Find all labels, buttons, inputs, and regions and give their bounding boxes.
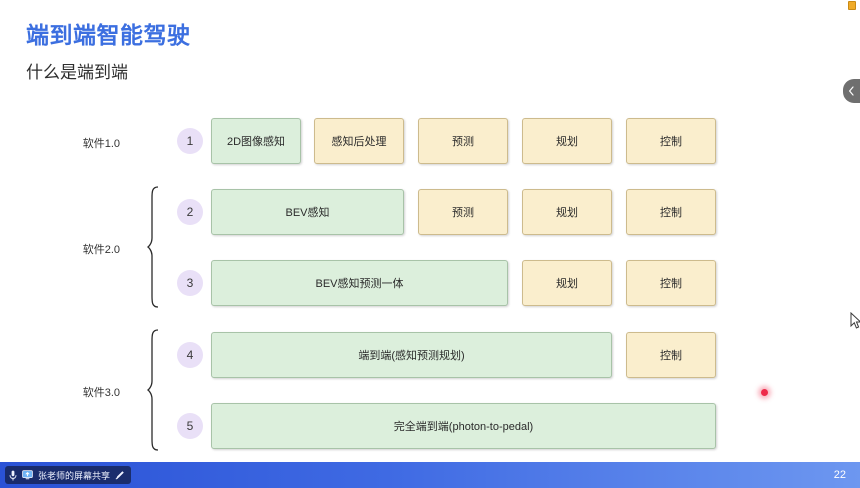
node-prediction-row1[interactable]: 预测	[418, 118, 508, 164]
step-badge-1: 1	[177, 128, 203, 154]
step-badge-5: 5	[177, 413, 203, 439]
pencil-icon[interactable]	[115, 470, 125, 480]
monitor-share-icon[interactable]	[22, 470, 33, 480]
brace-software-2	[146, 186, 160, 308]
notification-marker-icon	[848, 1, 856, 10]
node-full-end-to-end-photon-to-pedal[interactable]: 完全端到端(photon-to-pedal)	[211, 403, 716, 449]
node-prediction-row2[interactable]: 预测	[418, 189, 508, 235]
group-label-software-1: 软件1.0	[60, 135, 120, 151]
node-planning-row2[interactable]: 规划	[522, 189, 612, 235]
mouse-cursor	[850, 312, 860, 330]
collapse-panel-button[interactable]	[843, 79, 860, 103]
node-bev-perception[interactable]: BEV感知	[211, 189, 404, 235]
chevron-left-icon	[848, 86, 855, 96]
meeting-bottom-bar: 张老师的屏幕共享 22	[0, 462, 860, 488]
step-badge-4: 4	[177, 342, 203, 368]
group-label-software-3: 软件3.0	[60, 384, 120, 400]
presentation-slide: 端到端智能驾驶 什么是端到端 软件1.0 软件2.0 软件3.0 1 2D图像感	[0, 0, 860, 462]
laser-pointer-dot	[761, 389, 768, 396]
page-title: 端到端智能驾驶	[26, 16, 191, 50]
group-label-software-2: 软件2.0	[60, 241, 120, 257]
software-evolution-diagram: 软件1.0 软件2.0 软件3.0 1 2D图像感知 感知后处理 预测 规划 控…	[0, 100, 860, 450]
node-bev-perception-prediction-unified[interactable]: BEV感知预测一体	[211, 260, 508, 306]
node-end-to-end-perception-prediction-planning[interactable]: 端到端(感知预测规划)	[211, 332, 612, 378]
slide-subtitle: 什么是端到端	[26, 58, 128, 83]
node-control-row4[interactable]: 控制	[626, 332, 716, 378]
microphone-icon[interactable]	[9, 470, 17, 481]
node-2d-image-perception[interactable]: 2D图像感知	[211, 118, 301, 164]
step-badge-3: 3	[177, 270, 203, 296]
screen-share-status-pill[interactable]: 张老师的屏幕共享	[5, 466, 131, 484]
meeting-screen-share-view: 端到端智能驾驶 什么是端到端 软件1.0 软件2.0 软件3.0 1 2D图像感	[0, 0, 860, 488]
screen-share-label: 张老师的屏幕共享	[38, 469, 110, 482]
node-control-row2[interactable]: 控制	[626, 189, 716, 235]
slide-page-number: 22	[834, 469, 846, 481]
node-planning-row3[interactable]: 规划	[522, 260, 612, 306]
step-badge-2: 2	[177, 199, 203, 225]
node-perception-postprocess[interactable]: 感知后处理	[314, 118, 404, 164]
brace-software-3	[146, 329, 160, 451]
node-control-row3[interactable]: 控制	[626, 260, 716, 306]
node-control-row1[interactable]: 控制	[626, 118, 716, 164]
node-planning-row1[interactable]: 规划	[522, 118, 612, 164]
